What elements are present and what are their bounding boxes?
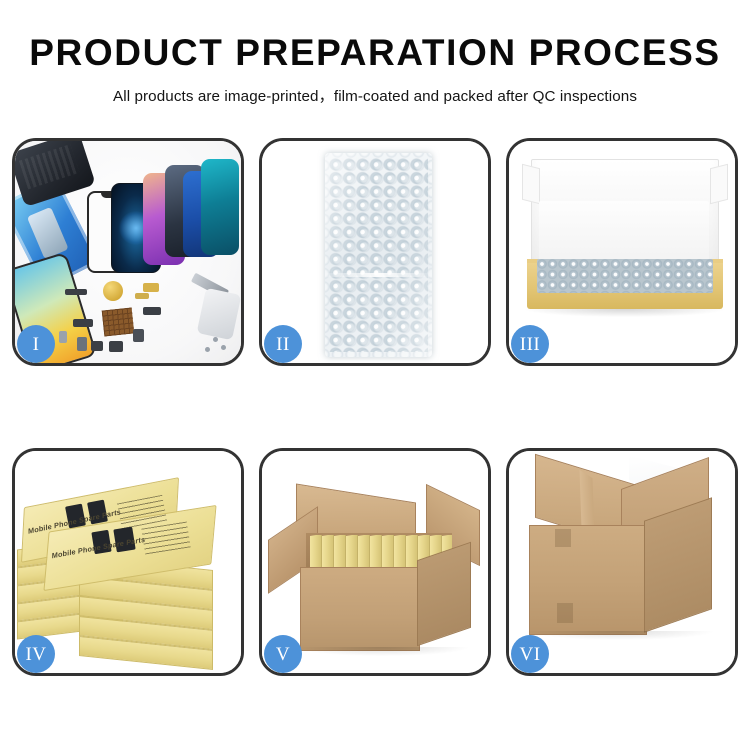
page-title: PRODUCT PREPARATION PROCESS [0,0,750,73]
spare-part [73,319,93,327]
page-subtitle: All products are image-printed，film-coat… [0,73,750,106]
carton-front-face [300,567,420,651]
spare-part [143,283,159,292]
screw [213,337,218,342]
process-step-panel-2[interactable]: II [259,138,491,366]
foam-padding [539,201,709,263]
carton-front-face [529,525,647,635]
plastic-sheen [325,153,432,357]
process-step-panel-6[interactable]: VI [506,448,738,676]
spare-part [135,293,149,299]
spare-part [143,307,161,315]
step-badge-2: II [264,325,302,363]
carton-crease [555,529,571,547]
process-step-panel-5[interactable]: V [259,448,491,676]
process-step-panel-4[interactable]: Mobile Phone Spare Parts Mobile Phone Sp… [12,448,244,676]
spare-part [109,341,123,352]
drop-shadow [296,647,468,656]
screw [221,345,226,350]
screw [205,347,210,352]
spare-part [59,331,67,343]
step-badge-3: III [511,325,549,363]
step-badge-5: V [264,635,302,673]
carton-crease [557,603,573,623]
page-header: PRODUCT PREPARATION PROCESS All products… [0,0,750,106]
spare-part [65,289,87,295]
step-badge-6: VI [511,635,549,673]
spare-part [91,341,103,351]
drop-shadow [527,631,713,640]
bubble-wrap-sleeve [325,153,432,357]
carton-side-face [644,497,712,632]
process-step-grid: I II III [12,138,738,676]
speaker-part [103,281,123,301]
process-step-panel-3[interactable]: III [506,138,738,366]
step-badge-1: I [17,325,55,363]
bubble-wrapped-product [537,259,713,293]
phone-teal [201,159,239,255]
spare-part [77,337,87,351]
process-step-panel-1[interactable]: I [12,138,244,366]
drop-shadow [525,309,725,317]
step-badge-4: IV [17,635,55,673]
chip-array-part [102,308,135,337]
spare-part [133,329,144,342]
